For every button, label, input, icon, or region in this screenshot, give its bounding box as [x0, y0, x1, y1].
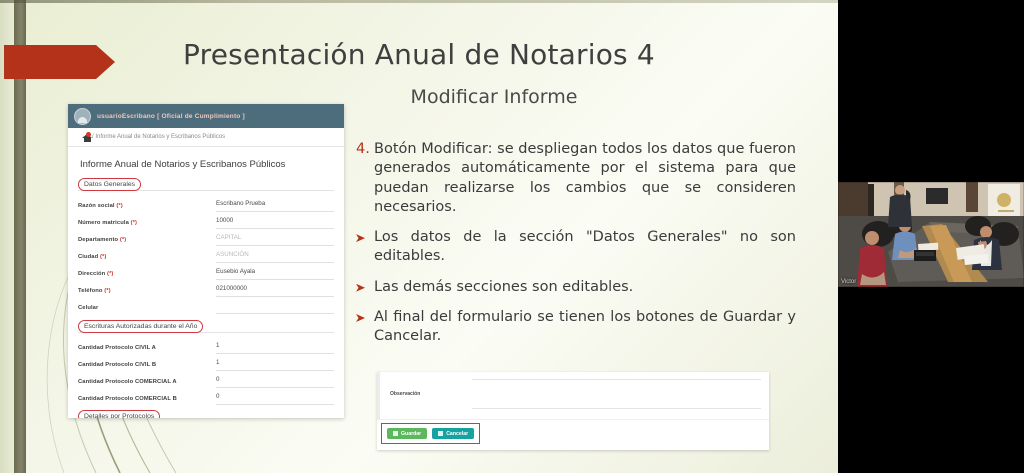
field-label: Cantidad Protocolo CIVIL B — [78, 362, 216, 368]
bullet-list: 4. Botón Modificar: se despliegan todos … — [356, 140, 796, 358]
direccion-field[interactable]: Eusebio Ayala — [216, 268, 334, 280]
numero-matricula-field[interactable]: 10000 — [216, 217, 334, 229]
bullet-text: Al final del formulario se tienen los bo… — [374, 308, 796, 347]
panel-footer: Guardar Cancelar — [377, 419, 769, 450]
field-label: Dirección (*) — [78, 271, 216, 277]
razon-social-field[interactable]: Escribano Prueba — [216, 200, 334, 212]
list-item: Al final del formulario se tienen los bo… — [356, 308, 796, 347]
list-item: Los datos de la sección "Datos Generales… — [356, 228, 796, 267]
breadcrumb-label: / Informe Anual de Notarios y Escribanos… — [92, 134, 225, 140]
save-button[interactable]: Guardar — [387, 428, 427, 439]
observacion-row: Observación — [377, 372, 769, 419]
slide-canvas: Presentación Anual de Notarios 4 Modific… — [0, 0, 838, 473]
bullet-text: Botón Modificar: se despliegan todos los… — [374, 140, 796, 217]
observacion-label: Observación — [390, 391, 420, 397]
list-item: 4. Botón Modificar: se despliegan todos … — [356, 140, 796, 217]
cancel-label: Cancelar — [446, 431, 468, 437]
table-row: Ciudad (*) ASUNCIÓN — [78, 248, 334, 265]
telefono-field[interactable]: 021000000 — [216, 285, 334, 297]
bullet-text: Las demás secciones son editables. — [374, 278, 796, 297]
section-header-datos-generales: Datos Generales — [78, 178, 334, 191]
app-form: Informe Anual de Notarios y Escribanos P… — [68, 147, 344, 418]
field-label: Cantidad Protocolo COMERCIAL A — [78, 379, 216, 385]
app-user-bar: usuarioEscribano [ Oficial de Cumplimien… — [68, 104, 344, 128]
participant-name-label: Victor — [841, 279, 856, 285]
field-label: Celular — [78, 305, 216, 311]
app-screenshot: usuarioEscribano [ Oficial de Cumplimien… — [68, 104, 344, 418]
cancel-icon — [438, 431, 443, 436]
video-panel: Victor — [838, 0, 1024, 473]
section-label: Datos Generales — [78, 178, 141, 191]
page-title: Presentación Anual de Notarios 4 — [0, 38, 838, 71]
table-row: Cantidad Protocolo CIVIL A 1 — [78, 339, 334, 356]
table-row: Razón social (*) Escribano Prueba — [78, 197, 334, 214]
breadcrumb[interactable]: / Informe Anual de Notarios y Escribanos… — [68, 128, 344, 147]
celular-field[interactable] — [216, 302, 334, 314]
home-icon[interactable] — [78, 132, 88, 142]
section-label: Detalles por Protocolos — [78, 410, 160, 418]
avatar — [74, 108, 91, 125]
field-label: Cantidad Protocolo CIVIL A — [78, 345, 216, 351]
table-row: Celular — [78, 299, 334, 316]
list-item: Las demás secciones son editables. — [356, 278, 796, 297]
table-row: Cantidad Protocolo COMERCIAL B 0 — [78, 390, 334, 407]
video-tile[interactable]: Victor — [838, 182, 1024, 287]
field-label: Número matricula (*) — [78, 220, 216, 226]
table-row: Cantidad Protocolo COMERCIAL A 0 — [78, 373, 334, 390]
protocolo-civil-b-field[interactable]: 1 — [216, 359, 334, 371]
field-label: Cantidad Protocolo COMERCIAL B — [78, 396, 216, 402]
screen: Presentación Anual de Notarios 4 Modific… — [0, 0, 1024, 473]
table-row: Número matricula (*) 10000 — [78, 214, 334, 231]
arrow-bullet-icon — [356, 278, 374, 297]
field-label: Departamento (*) — [78, 237, 216, 243]
table-row: Departamento (*) CAPITAL — [78, 231, 334, 248]
protocolo-civil-a-field[interactable]: 1 — [216, 342, 334, 354]
bullet-text: Los datos de la sección "Datos Generales… — [374, 228, 796, 267]
save-label: Guardar — [401, 431, 421, 437]
cancel-button[interactable]: Cancelar — [432, 428, 474, 439]
arrow-bullet-icon — [356, 308, 374, 347]
protocolo-comercial-b-field[interactable]: 0 — [216, 393, 334, 405]
slide-top-rule — [0, 0, 838, 3]
departamento-field: CAPITAL — [216, 234, 334, 246]
save-icon — [393, 431, 398, 436]
protocolo-comercial-a-field[interactable]: 0 — [216, 376, 334, 388]
bullet-number: 4. — [356, 140, 374, 217]
table-row: Teléfono (*) 021000000 — [78, 282, 334, 299]
action-buttons-highlight: Guardar Cancelar — [381, 423, 480, 444]
section-header-escrituras: Escrituras Autorizadas durante el Año — [78, 320, 334, 333]
meeting-room-video — [838, 182, 1024, 287]
section-label: Escrituras Autorizadas durante el Año — [78, 320, 203, 333]
section-header-detalles: Detalles por Protocolos — [78, 410, 334, 418]
field-label: Ciudad (*) — [78, 254, 216, 260]
table-row: Dirección (*) Eusebio Ayala — [78, 265, 334, 282]
observacion-panel: Observación Guardar Cancelar — [377, 372, 769, 450]
form-title: Informe Anual de Notarios y Escribanos P… — [80, 159, 334, 170]
observacion-input[interactable] — [472, 379, 761, 409]
field-label: Razón social (*) — [78, 203, 216, 209]
field-label: Teléfono (*) — [78, 288, 216, 294]
app-user-label: usuarioEscribano [ Oficial de Cumplimien… — [97, 113, 245, 120]
ciudad-field: ASUNCIÓN — [216, 251, 334, 263]
arrow-bullet-icon — [356, 228, 374, 267]
table-row: Cantidad Protocolo CIVIL B 1 — [78, 356, 334, 373]
